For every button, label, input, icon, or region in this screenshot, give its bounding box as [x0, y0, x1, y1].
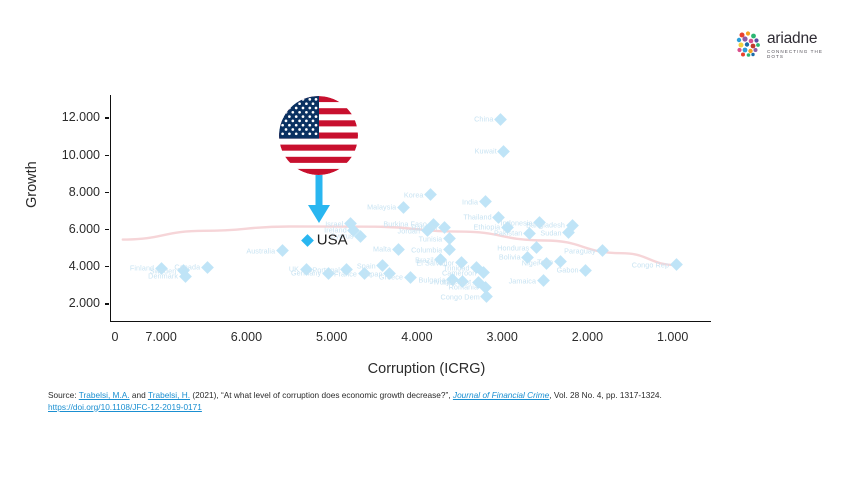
data-point-label: Korea — [404, 190, 424, 199]
x-tick-label: 5.000 — [316, 330, 347, 344]
data-point-label: Greece — [379, 273, 403, 282]
data-point-label: China — [474, 115, 493, 124]
y-tick-mark — [105, 117, 109, 118]
source-volume: , Vol. 28 No. 4, pp. 1317-1324. — [549, 390, 662, 400]
x-tick-label: 4.000 — [401, 330, 432, 344]
data-point-label: Australia — [246, 246, 275, 255]
down-arrow-icon — [305, 175, 333, 225]
data-point-label: Columbia — [411, 245, 442, 254]
x-tick-label: 6.000 — [231, 330, 262, 344]
y-tick-label: 8.000 — [42, 185, 100, 199]
data-point-label: Sweden — [150, 266, 177, 275]
data-point-label: Kuwait — [475, 147, 497, 156]
source-journal-link[interactable]: Journal of Financial Crime — [453, 390, 549, 400]
source-doi-link[interactable]: https://doi.org/10.1108/JFC-12-2019-0171 — [48, 402, 202, 412]
usa-label: USA — [317, 232, 348, 249]
source-conjunction: and — [130, 390, 148, 400]
data-point-label: Jamaica — [509, 276, 536, 285]
data-point-label: Paraguay — [564, 246, 596, 255]
data-point-label: Malaysia — [367, 203, 396, 212]
y-tick-mark — [105, 229, 109, 230]
data-point-label: France — [334, 269, 357, 278]
x-tick-label: 7.000 — [146, 330, 177, 344]
data-point-label: Honduras — [497, 243, 529, 252]
data-point-label: Romania — [449, 283, 478, 292]
data-point-label: Sudan — [540, 228, 561, 237]
x-tick-label: 3.000 — [487, 330, 518, 344]
source-title: (2021), “At what level of corruption doe… — [190, 390, 453, 400]
data-point-label: India — [462, 197, 478, 206]
x-tick-label: 1.000 — [657, 330, 688, 344]
data-point-label: Togo — [537, 257, 553, 266]
data-point-label: Congo Rep — [632, 260, 669, 269]
y-axis-title: Growth — [24, 161, 40, 208]
data-point-label: Congo Dem — [441, 292, 480, 301]
y-tick-mark — [105, 192, 109, 193]
y-tick-label: 4.000 — [42, 259, 100, 273]
y-tick-label: 12.000 — [42, 110, 100, 124]
y-tick-mark — [105, 266, 109, 267]
scatter-chart: Growth Corruption (ICRG) 12.00010.0008.0… — [0, 0, 853, 380]
source-citation: Source: Trabelsi, M.A. and Trabelsi, H. … — [48, 390, 808, 413]
y-tick-mark — [105, 303, 109, 304]
x-tick-label: 2.000 — [572, 330, 603, 344]
source-author-2-link[interactable]: Trabelsi, H. — [148, 390, 190, 400]
y-tick-label: 2.000 — [42, 296, 100, 310]
data-point-label: Canada — [174, 263, 200, 272]
x-axis-title: Corruption (ICRG) — [0, 361, 853, 377]
trend-line — [110, 95, 711, 322]
data-point-label: Bolivia — [499, 253, 521, 262]
usa-flag-icon — [279, 96, 358, 175]
data-point-label: Tunisia — [419, 234, 443, 243]
data-point-label: Gabon — [557, 266, 579, 275]
y-tick-label: 6.000 — [42, 222, 100, 236]
source-prefix: Source: — [48, 390, 79, 400]
y-tick-label: 10.000 — [42, 148, 100, 162]
x-tick-label: 0 — [112, 330, 119, 344]
data-point-label: Thailand — [463, 213, 491, 222]
data-point-label: Cameroon — [442, 268, 476, 277]
data-point-label: Malta — [373, 245, 391, 254]
data-point-label: Jordan — [398, 226, 421, 235]
y-tick-mark — [105, 155, 109, 156]
source-author-1-link[interactable]: Trabelsi, M.A. — [79, 390, 130, 400]
data-point-label: Pakistan — [494, 229, 522, 238]
